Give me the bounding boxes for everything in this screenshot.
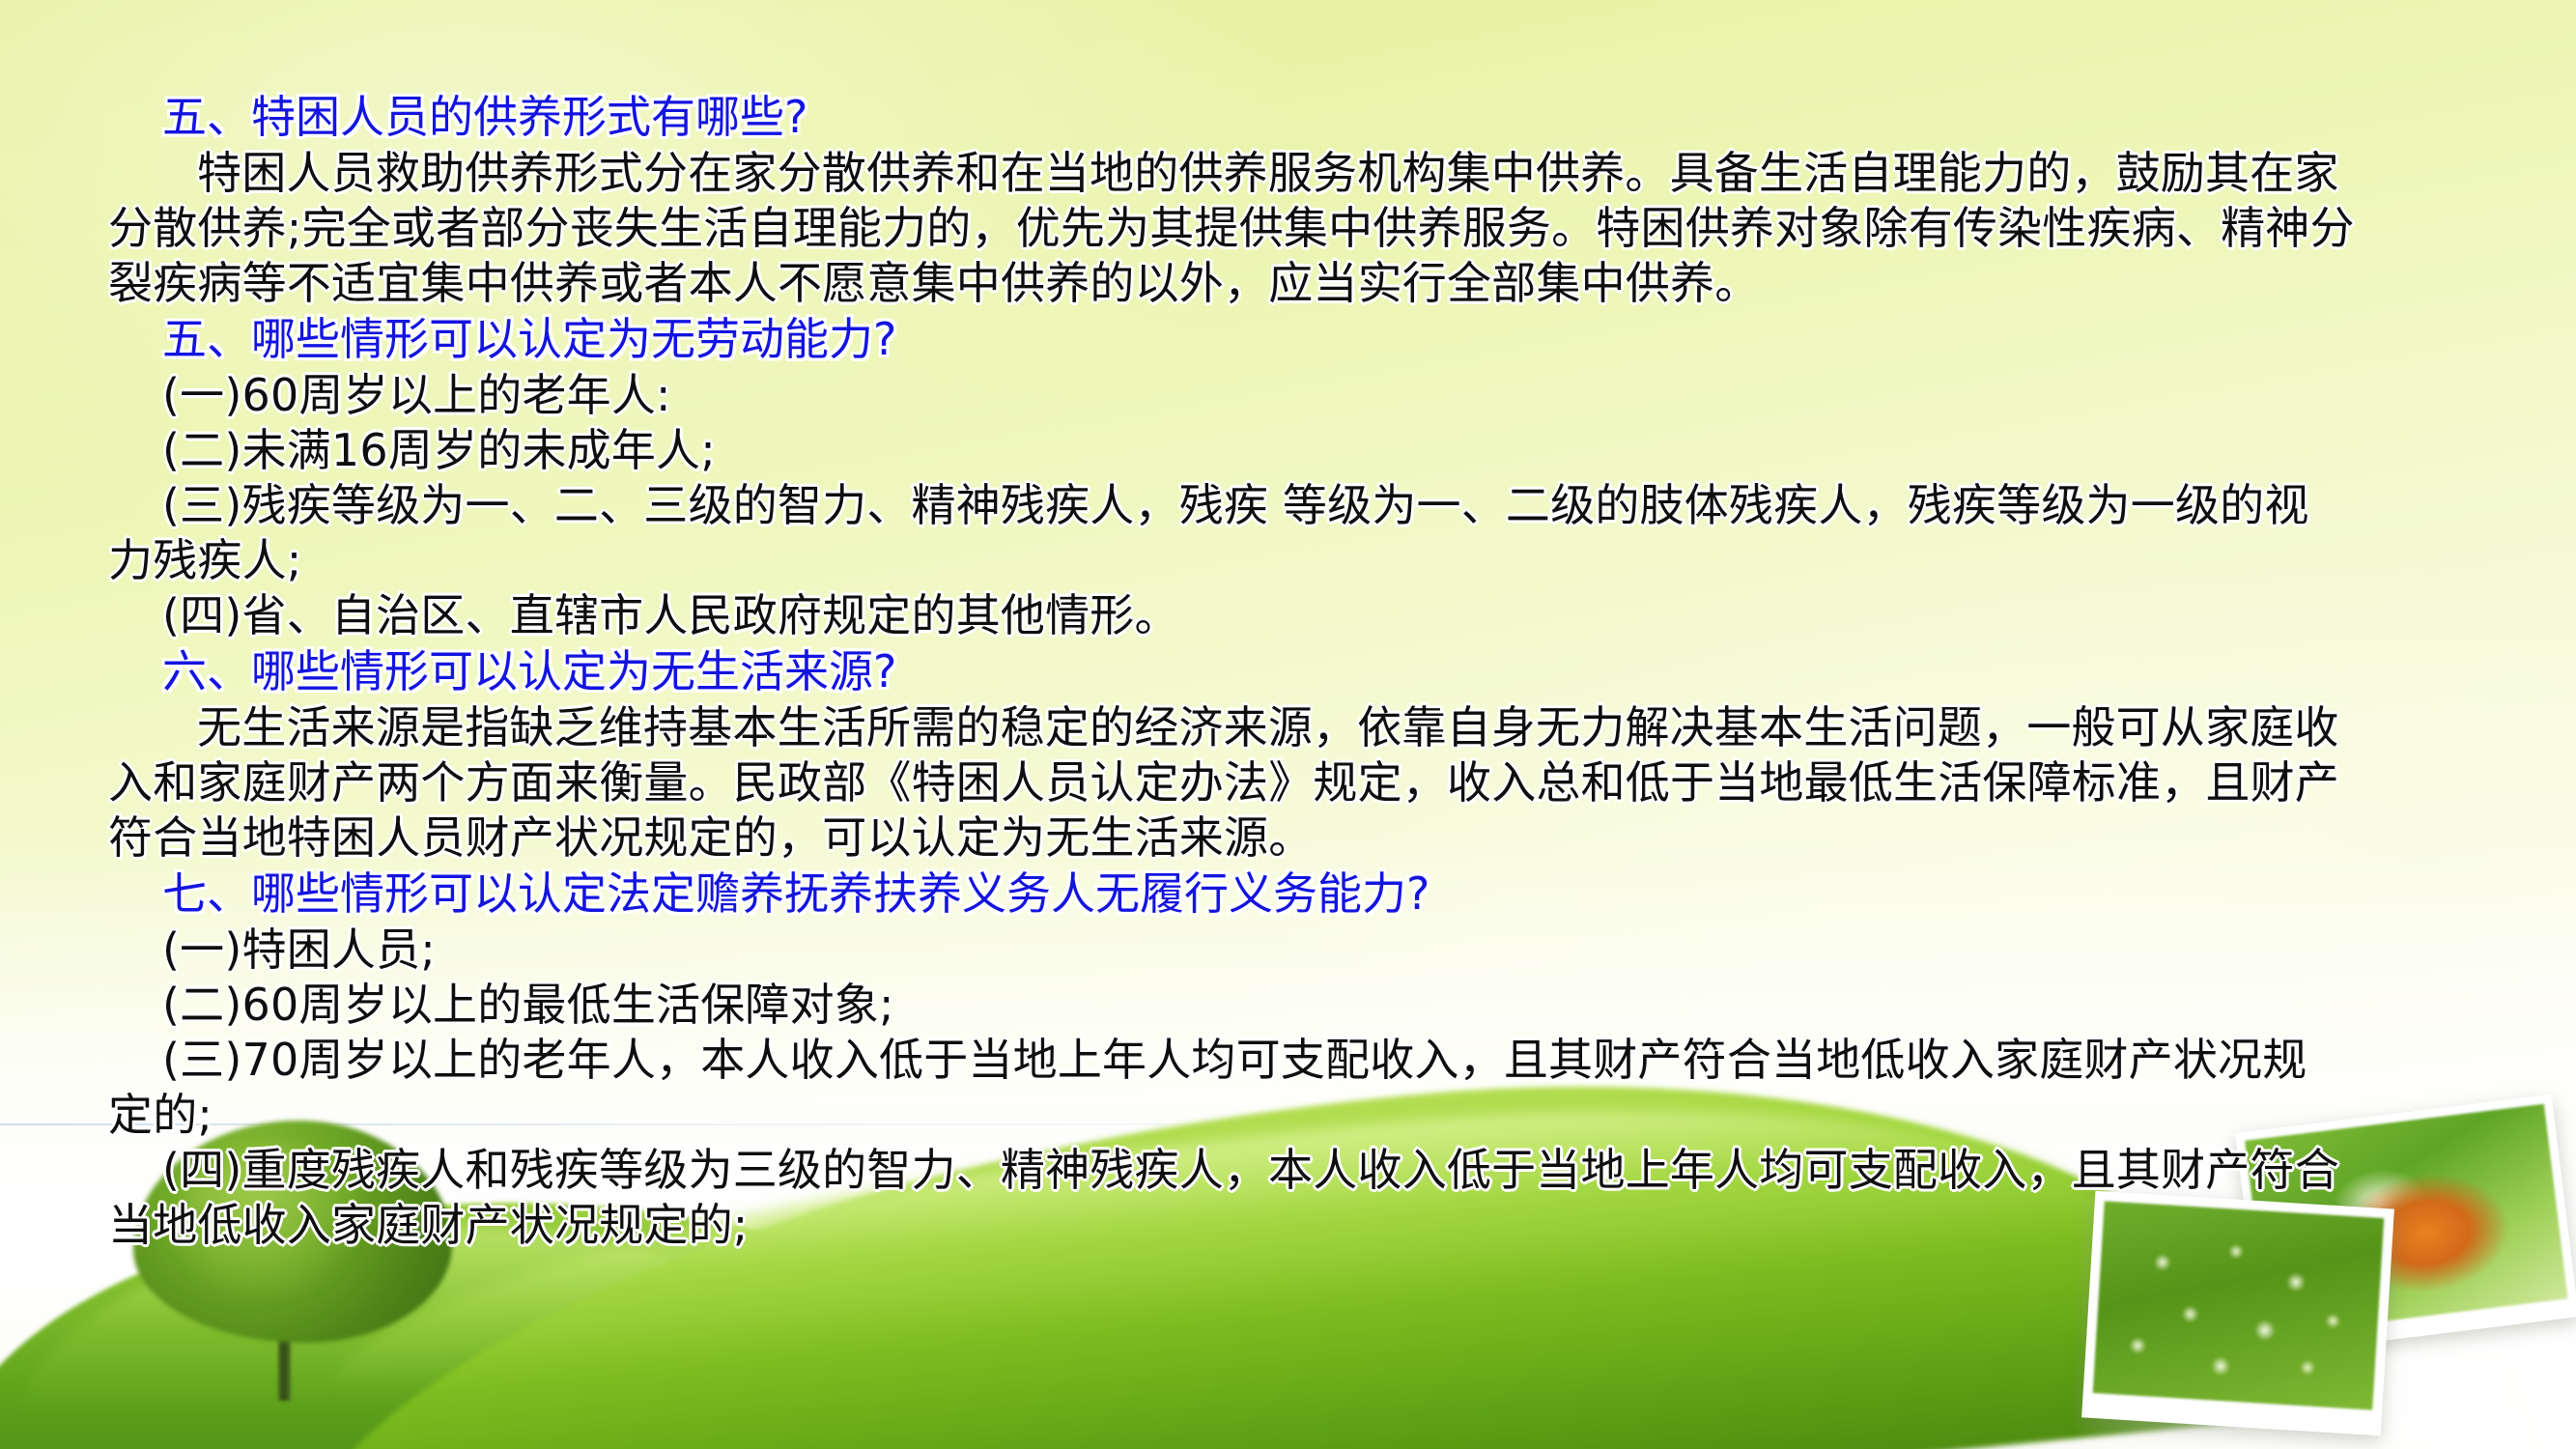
- paragraph-noincome-line-2: 入和家庭财产两个方面来衡量。民政部《特困人员认定办法》规定，收入总和低于当地最低…: [108, 755, 2468, 810]
- item-nowork-3-line-1: (三)残疾等级为一、二、三级的智力、精神残疾人，残疾 等级为一、二级的肢体残疾人…: [108, 478, 2468, 533]
- slide: 五、特困人员的供养形式有哪些?特困人员救助供养形式分在家分散供养和在当地的供养服…: [0, 0, 2576, 1449]
- item-nowork-4-line-1: (四)省、自治区、直辖市人民政府规定的其他情形。: [108, 588, 2468, 643]
- item-noduty-1-line-1: (一)特困人员;: [108, 923, 2468, 978]
- item-noduty-4-line-2: 当地低收入家庭财产状况规定的;: [108, 1198, 2468, 1253]
- heading-6-noincome: 六、哪些情形可以认定为无生活来源?: [108, 643, 2468, 700]
- item-noduty-3-line-2: 定的;: [108, 1088, 2468, 1143]
- item-nowork-2-line-1: (二)未满16周岁的未成年人;: [108, 423, 2468, 478]
- item-noduty-2-line-1: (二)60周岁以上的最低生活保障对象;: [108, 978, 2468, 1033]
- item-noduty-3-line-1: (三)70周岁以上的老年人，本人收入低于当地上年人均可支配收入，且其财产符合当地…: [108, 1033, 2468, 1088]
- paragraph-forms-line-2: 分散供养;完全或者部分丧失生活自理能力的，优先为其提供集中供养服务。特困供养对象…: [108, 201, 2468, 256]
- item-noduty-4-line-1: (四)重度残疾人和残疾等级为三级的智力、精神残疾人，本人收入低于当地上年人均可支…: [108, 1143, 2468, 1198]
- paragraph-forms-line-3: 裂疾病等不适宜集中供养或者本人不愿意集中供养的以外，应当实行全部集中供养。: [108, 256, 2468, 311]
- item-nowork-1-line-1: (一)60周岁以上的老年人:: [108, 368, 2468, 423]
- heading-5-forms: 五、特困人员的供养形式有哪些?: [108, 89, 2468, 146]
- heading-5-nowork: 五、哪些情形可以认定为无劳动能力?: [108, 311, 2468, 368]
- slide-text-content: 五、特困人员的供养形式有哪些?特困人员救助供养形式分在家分散供养和在当地的供养服…: [0, 0, 2576, 1449]
- item-nowork-3-line-2: 力残疾人;: [108, 533, 2468, 588]
- paragraph-forms-line-1: 特困人员救助供养形式分在家分散供养和在当地的供养服务机构集中供养。具备生活自理能…: [108, 146, 2468, 201]
- paragraph-noincome-line-1: 无生活来源是指缺乏维持基本生活所需的稳定的经济来源，依靠自身无力解决基本生活问题…: [108, 700, 2468, 755]
- heading-7-noduty: 七、哪些情形可以认定法定赡养抚养扶养义务人无履行义务能力?: [108, 866, 2468, 923]
- paragraph-noincome-line-3: 符合当地特困人员财产状况规定的，可以认定为无生活来源。: [108, 810, 2468, 866]
